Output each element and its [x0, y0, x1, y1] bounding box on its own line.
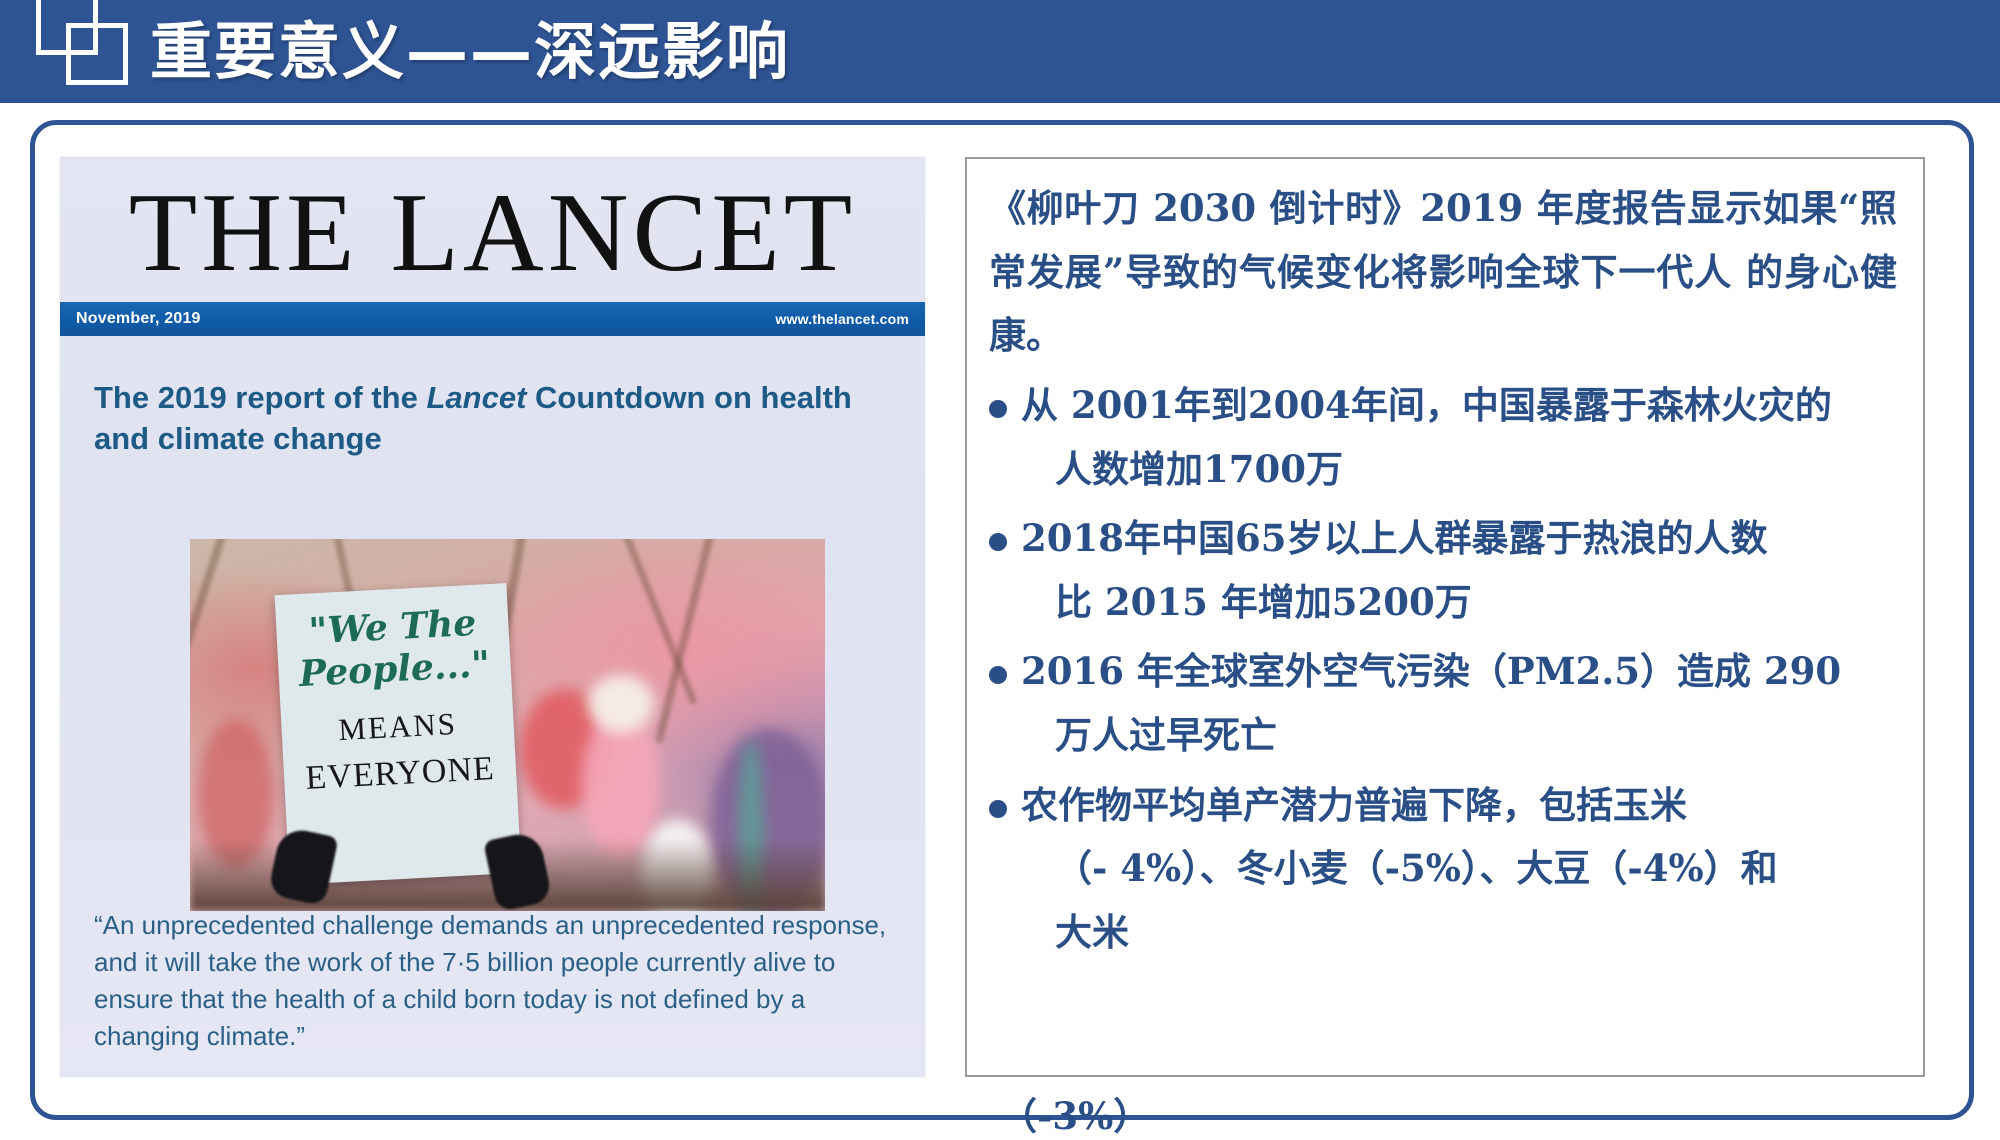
summary-textbox: 《柳叶刀 2030 倒计时》2019 年度报告显示如果“照常发展”导致的气候变化… — [965, 157, 1925, 1077]
bullet-line-3: 大米 — [1021, 901, 1778, 965]
bullet-line-1: 从 2001年到2004年间，中国暴露于森林火灾的 — [1021, 383, 1832, 427]
headline-part1: The 2019 report of the — [94, 380, 426, 415]
sign-line-4: EVERYONE — [283, 748, 517, 798]
bullet-dot-icon — [989, 533, 1007, 551]
bullet-text: 2018年中国65岁以上人群暴露于热浪的人数 比 2015 年增加5200万 — [1021, 507, 1767, 634]
page-title: 重要意义——深远影响 — [150, 21, 790, 83]
bullet-line-2: 比 2015 年增加5200万 — [1021, 571, 1767, 635]
bullet-line-1: 2016 年全球室外空气污染（PM2.5）造成 290 — [1021, 649, 1841, 693]
overflow-text: （-3%） — [1000, 1092, 1150, 1140]
bullet-line-1: 2018年中国65岁以上人群暴露于热浪的人数 — [1021, 516, 1767, 560]
lancet-cover-image: THE LANCET November, 2019 www.thelancet.… — [60, 157, 925, 1077]
bullet-line-1: 农作物平均单产潜力普遍下降，包括玉米 — [1021, 783, 1687, 827]
intro-paragraph: 《柳叶刀 2030 倒计时》2019 年度报告显示如果“照常发展”导致的气候变化… — [989, 177, 1897, 368]
bullet-dot-icon — [989, 666, 1007, 684]
list-item: 从 2001年到2004年间，中国暴露于森林火灾的 人数增加1700万 — [989, 374, 1897, 501]
lancet-issue-bar: November, 2019 www.thelancet.com — [60, 302, 925, 336]
bullet-text: 农作物平均单产潜力普遍下降，包括玉米 （- 4%）、冬小麦（-5%）、大豆（-4… — [1021, 774, 1778, 965]
bullet-text: 从 2001年到2004年间，中国暴露于森林火灾的 人数增加1700万 — [1021, 374, 1832, 501]
double-square-icon — [30, 11, 122, 93]
lancet-masthead: THE LANCET — [60, 171, 925, 296]
content-card: THE LANCET November, 2019 www.thelancet.… — [30, 120, 1974, 1120]
bullet-line-2: 人数增加1700万 — [1021, 438, 1832, 502]
slide-header: 重要意义——深远影响 — [0, 0, 2000, 103]
lancet-quote: “An unprecedented challenge demands an u… — [94, 907, 895, 1055]
sign-line-3: MEANS — [281, 702, 515, 750]
lancet-website-url: www.thelancet.com — [775, 311, 909, 327]
list-item: 2018年中国65岁以上人群暴露于热浪的人数 比 2015 年增加5200万 — [989, 507, 1897, 634]
protest-photo: "We The People..." MEANS EVERYONE — [190, 539, 825, 911]
bullet-text: 2016 年全球室外空气污染（PM2.5）造成 290 万人过早死亡 — [1021, 640, 1841, 767]
lancet-issue-date: November, 2019 — [76, 310, 201, 328]
bullet-line-2: （- 4%）、冬小麦（-5%）、大豆（-4%）和 — [1021, 837, 1778, 901]
bullet-line-2: 万人过早死亡 — [1021, 704, 1841, 768]
lancet-headline: The 2019 report of the Lancet Countdown … — [94, 378, 891, 460]
bullet-dot-icon — [989, 400, 1007, 418]
list-item: 2016 年全球室外空气污染（PM2.5）造成 290 万人过早死亡 — [989, 640, 1897, 767]
list-item: 农作物平均单产潜力普遍下降，包括玉米 （- 4%）、冬小麦（-5%）、大豆（-4… — [989, 774, 1897, 965]
bullet-dot-icon — [989, 800, 1007, 818]
headline-italic: Lancet — [426, 380, 526, 415]
